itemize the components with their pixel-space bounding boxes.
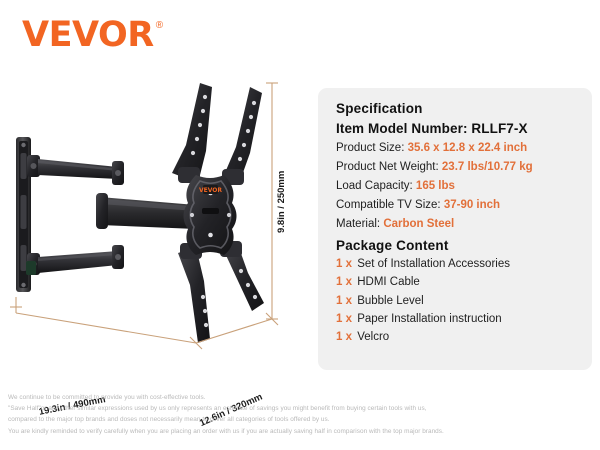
disclaimer-line: You are kindly reminded to verify carefu…: [8, 426, 594, 437]
package-item: 1 x Velcro: [336, 330, 592, 344]
spec-row-product-size: Product Size: 35.6 x 12.8 x 22.4 inch: [336, 141, 592, 155]
package-item-qty: 1 x: [336, 295, 352, 307]
product-brand-sticker: VEVOR: [199, 187, 222, 194]
package-item-qty: 1 x: [336, 331, 352, 343]
package-content-heading: Package Content: [336, 238, 592, 253]
package-item-name: Velcro: [357, 331, 389, 343]
package-item-name: HDMI Cable: [357, 276, 420, 288]
specification-panel: Specification Item Model Number: RLLF7-X…: [318, 88, 592, 370]
spec-value: 37-90 inch: [444, 199, 500, 211]
disclaimer-line: compared to the major top brands and dos…: [8, 414, 594, 425]
upper-arm: [38, 159, 124, 185]
disclaimer-line: "Save Half"or any other similar expressi…: [8, 403, 594, 414]
package-item-qty: 1 x: [336, 313, 352, 325]
spec-row-load-capacity: Load Capacity: 165 lbs: [336, 179, 592, 193]
spec-value: Carbon Steel: [383, 218, 454, 230]
package-item-qty: 1 x: [336, 258, 352, 270]
extension-arm: [96, 193, 196, 229]
package-item-name: Paper Installation instruction: [357, 313, 501, 325]
model-number-row: Item Model Number: RLLF7-X: [336, 121, 592, 136]
vesa-bracket: VEVOR: [172, 83, 264, 343]
spec-row-compatible-tv-size: Compatible TV Size: 37-90 inch: [336, 198, 592, 212]
spec-label: Material:: [336, 218, 380, 230]
wall-plate: [16, 137, 40, 292]
spec-row-material: Material: Carbon Steel: [336, 217, 592, 231]
spec-label: Product Net Weight:: [336, 161, 439, 173]
product-spec-page: VEVOR ®: [0, 0, 600, 450]
model-number-label: Item Model Number:: [336, 121, 468, 136]
spec-value: 165 lbs: [416, 180, 455, 192]
lower-arm: [38, 245, 124, 273]
package-item: 1 x Paper Installation instruction: [336, 312, 592, 326]
spec-value: 35.6 x 12.8 x 22.4 inch: [408, 142, 528, 154]
specification-heading: Specification: [336, 101, 592, 116]
package-item-name: Set of Installation Accessories: [357, 258, 510, 270]
package-item: 1 x Bubble Level: [336, 294, 592, 308]
disclaimer-block: We continue to be committed to provide y…: [8, 392, 594, 437]
package-item-qty: 1 x: [336, 276, 352, 288]
tv-wall-mount-drawing: VEVOR: [0, 75, 310, 375]
registered-trademark-icon: ®: [156, 20, 163, 31]
spec-label: Load Capacity:: [336, 180, 413, 192]
brand-wordmark: VEVOR: [22, 18, 154, 53]
package-item: 1 x Set of Installation Accessories: [336, 257, 592, 271]
spec-label: Product Size:: [336, 142, 404, 154]
vevor-logo: VEVOR ®: [22, 18, 163, 53]
spec-label: Compatible TV Size:: [336, 199, 441, 211]
model-number-value: RLLF7-X: [471, 121, 527, 136]
spec-value: 23.7 lbs/10.77 kg: [442, 161, 533, 173]
dimension-label-height: 9.8in / 250mm: [276, 171, 287, 233]
product-illustration: VEVOR 9.8in / 250mm 19.3in / 490mm 12.6i…: [0, 75, 310, 375]
spec-row-net-weight: Product Net Weight: 23.7 lbs/10.77 kg: [336, 160, 592, 174]
package-item: 1 x HDMI Cable: [336, 275, 592, 289]
disclaimer-line: We continue to be committed to provide y…: [8, 392, 594, 403]
package-item-name: Bubble Level: [357, 295, 424, 307]
